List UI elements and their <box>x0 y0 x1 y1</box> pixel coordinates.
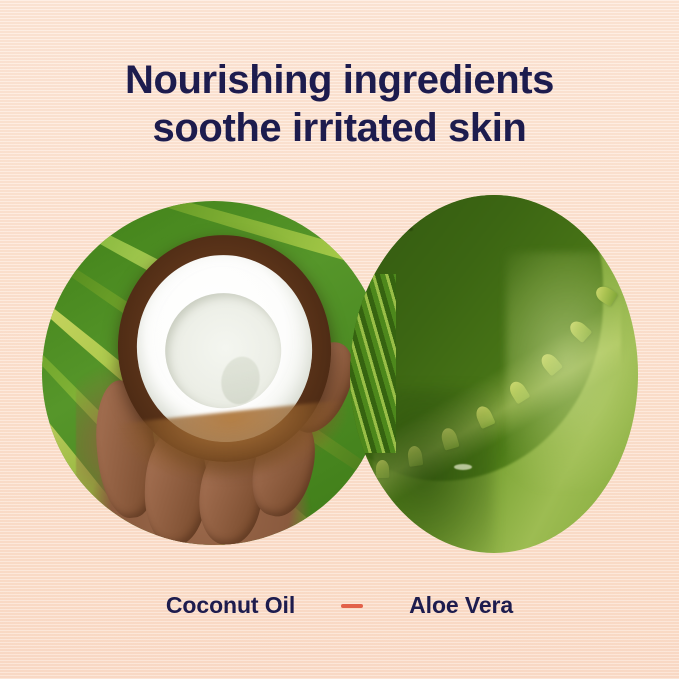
caption-divider-icon <box>341 604 363 608</box>
aloe-leaf-highlight <box>506 252 638 488</box>
aloe-photo <box>350 195 638 553</box>
ingredient-infographic: Nourishing ingredients soothe irritated … <box>0 0 679 679</box>
page-title: Nourishing ingredients soothe irritated … <box>0 56 679 152</box>
aloe-circle-left-notch <box>350 274 396 453</box>
caption-right-label: Aloe Vera <box>409 592 513 619</box>
headline-line-2: soothe irritated skin <box>0 104 679 152</box>
caption-left-label: Coconut Oil <box>166 592 295 619</box>
headline-line-1: Nourishing ingredients <box>0 56 679 104</box>
aloe-leaf-blemish <box>408 227 413 231</box>
coconut-photo <box>42 201 386 545</box>
coconut-cavity <box>159 287 286 414</box>
aloe-leaf-blemish <box>454 464 472 470</box>
caption-row: Coconut Oil Aloe Vera <box>0 592 679 619</box>
